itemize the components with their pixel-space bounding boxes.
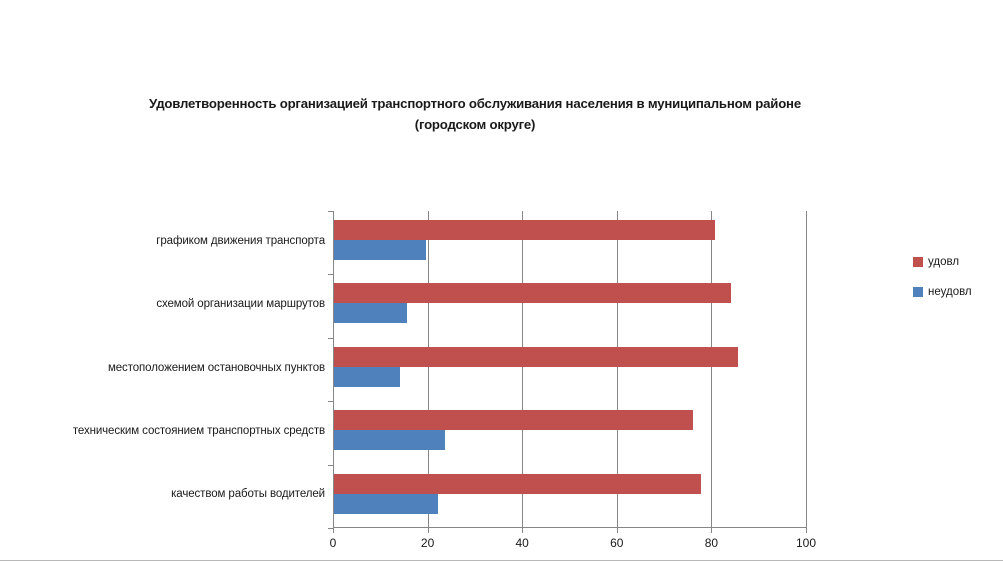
legend-swatch-icon [913,287,923,297]
y-tick-mark [328,274,333,275]
bar-neudovl[interactable] [334,240,426,260]
x-tick-mark [428,528,429,533]
chart-title-line-2: (городском округе) [80,114,870,135]
bar-udovl[interactable] [334,347,738,367]
chart-title: Удовлетворенность организацией транспорт… [80,93,870,135]
bar-udovl[interactable] [334,220,715,240]
y-tick-mark [328,401,333,402]
x-tick-label: 60 [610,536,623,550]
legend-item-udovl[interactable]: удовл [913,254,1001,270]
x-tick-label: 80 [705,536,718,550]
bar-group [334,211,806,274]
bar-group [334,401,806,464]
bar-group [334,465,806,528]
category-label: графиком движения транспорта [15,235,325,247]
category-label: качеством работы водителей [15,488,325,500]
bar-chart: Удовлетворенность организацией транспорт… [0,0,1003,561]
bar-neudovl[interactable] [334,367,400,387]
legend-label: удовл [928,256,959,268]
x-tick-label: 100 [796,536,816,550]
bar-udovl[interactable] [334,410,693,430]
bar-group [334,338,806,401]
y-tick-mark [328,338,333,339]
category-label: техническим состоянием транспортных сред… [15,425,325,437]
bar-udovl[interactable] [334,474,701,494]
plot-area: 020406080100 [333,211,806,528]
category-label: местоположением остановочных пунктов [15,362,325,374]
x-tick-label: 0 [330,536,337,550]
bar-group [334,274,806,337]
bar-neudovl[interactable] [334,303,407,323]
legend-item-neudovl[interactable]: неудовл [913,284,1001,300]
x-tick-mark [522,528,523,533]
y-tick-mark [328,211,333,212]
legend-label: неудовл [928,286,972,298]
x-tick-label: 40 [516,536,529,550]
bar-udovl[interactable] [334,283,731,303]
chart-title-line-1: Удовлетворенность организацией транспорт… [149,96,801,111]
chart-legend: удовл неудовл [913,254,1001,314]
x-tick-mark [333,528,334,533]
legend-swatch-icon [913,257,923,267]
x-tick-label: 20 [421,536,434,550]
category-label: схемой организации маршрутов [15,298,325,310]
x-tick-mark [711,528,712,533]
bar-neudovl[interactable] [334,494,438,514]
x-tick-mark [617,528,618,533]
x-tick-mark [806,528,807,533]
bar-neudovl[interactable] [334,430,445,450]
y-tick-mark [328,465,333,466]
gridline [806,211,807,528]
